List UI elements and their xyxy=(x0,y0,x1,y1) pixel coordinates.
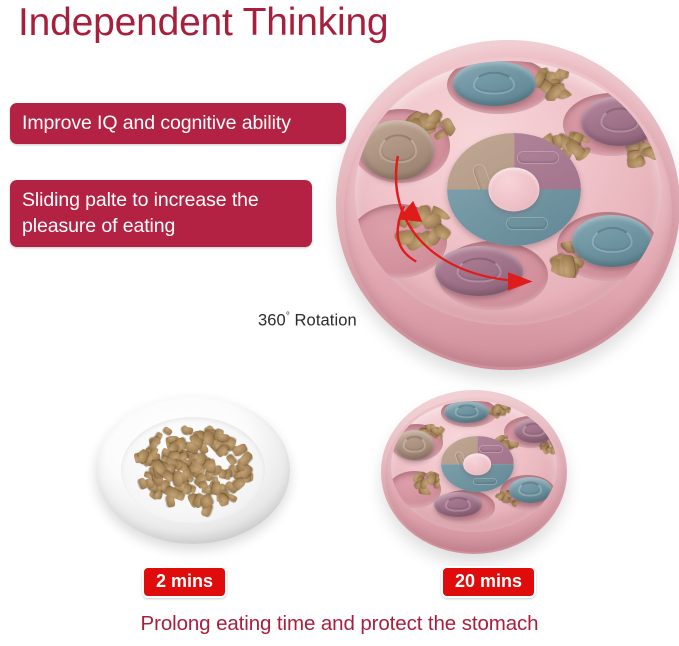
sliding-cover-left[interactable] xyxy=(395,430,435,460)
kibble-piece xyxy=(201,497,210,509)
bottom-caption: Prolong eating time and protect the stom… xyxy=(0,612,679,636)
kibble-piece xyxy=(169,452,180,460)
paw-emboss-icon xyxy=(454,405,479,418)
heart-emboss-icon xyxy=(445,497,471,511)
product-image-small-puzzle-toy xyxy=(381,390,567,554)
rotating-hub[interactable] xyxy=(441,436,514,492)
rotation-arrow-right xyxy=(355,61,661,325)
toy-face xyxy=(355,61,661,325)
kibble-piece xyxy=(204,432,213,445)
feature-banner-improve-iq: Improve IQ and cognitive ability xyxy=(10,103,346,144)
product-image-main-puzzle-toy xyxy=(336,40,679,370)
kibble-piece xyxy=(218,433,229,441)
kibble-piece xyxy=(163,426,174,436)
kibble-piece xyxy=(173,473,183,487)
page-title: Independent Thinking xyxy=(18,0,388,48)
status-badge-20-mins: 20 mins xyxy=(441,566,536,598)
kibble-piece xyxy=(437,424,446,434)
plate-of-kibble-image xyxy=(96,396,290,544)
hub-center-knob[interactable] xyxy=(463,454,491,475)
status-badge-2-mins: 2 mins xyxy=(142,566,227,598)
bone-emboss-icon xyxy=(473,478,497,486)
kibble-piece xyxy=(227,493,238,503)
kibble-piece xyxy=(182,426,194,435)
feature-banner-sliding-plate: Sliding palte to increase the pleasure o… xyxy=(10,180,312,247)
rotation-label: Rotation xyxy=(290,312,357,330)
sliding-cover-lower-right[interactable] xyxy=(509,477,552,503)
kibble-pile xyxy=(131,420,255,521)
kibble-piece xyxy=(183,483,192,494)
paw-emboss-icon xyxy=(403,436,425,453)
sliding-cover-upper-right[interactable] xyxy=(514,418,555,443)
sliding-cover-top[interactable] xyxy=(444,401,489,423)
rotation-value: 360 xyxy=(258,312,286,330)
toy-face xyxy=(391,401,557,532)
rotation-caption: 360° Rotation xyxy=(258,311,357,331)
heart-emboss-icon xyxy=(518,482,542,497)
paw-emboss-icon xyxy=(523,422,546,436)
